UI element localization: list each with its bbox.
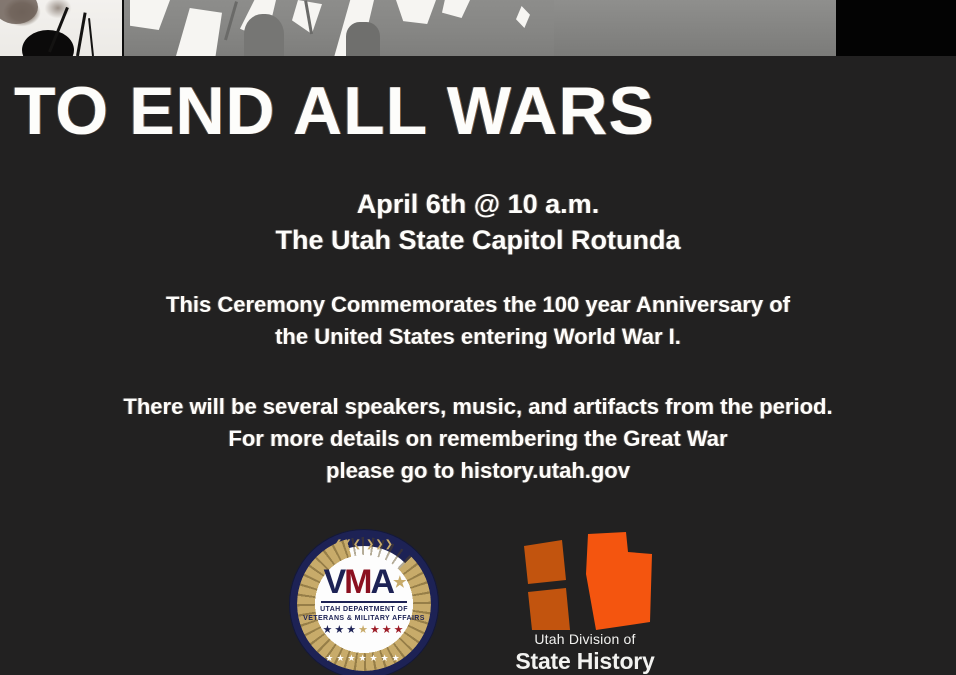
vma-letter-v: V <box>323 563 344 601</box>
rifle-silhouette <box>76 12 87 56</box>
event-location: The Utah State Capitol Rotunda <box>0 222 956 258</box>
page-title: TO END ALL WARS <box>14 72 655 150</box>
vma-letter-m: M <box>344 563 370 601</box>
vma-letter-a: A <box>371 563 394 601</box>
photo-fade <box>554 0 836 56</box>
smoke-blob <box>0 0 38 24</box>
panel-divider <box>122 0 124 56</box>
photo-panel-center <box>124 0 836 56</box>
state-history-wordmark: Utah Division of State History <box>500 630 670 675</box>
state-history-line-2: State History <box>500 648 670 675</box>
vma-divider <box>321 601 407 603</box>
rifle-silhouette <box>88 18 94 56</box>
state-history-line-1: Utah Division of <box>500 630 670 648</box>
crowd-highlight <box>396 0 436 24</box>
crowd-highlight <box>176 8 222 56</box>
vma-star-icon: ★ <box>393 574 404 591</box>
vma-seal-logo: ❮❮❮ ❯❯❯ VMA★ UTAH DEPARTMENT OF VETERANS… <box>289 529 439 675</box>
crowd-highlight <box>516 6 530 28</box>
vma-stars-red-icon: ★★★ <box>370 624 406 636</box>
vma-arc-stars-icon: ★★★★★★★ <box>289 653 439 664</box>
vma-org-line-1: UTAH DEPARTMENT OF <box>289 605 439 614</box>
event-details-line-3: please go to history.utah.gov <box>0 455 956 487</box>
event-description-block: This Ceremony Commemorates the 100 year … <box>0 289 956 353</box>
soldier-silhouette <box>244 14 284 56</box>
event-when-block: April 6th @ 10 a.m. The Utah State Capit… <box>0 186 956 258</box>
vma-stars-navy-icon: ★★★ <box>322 624 358 636</box>
vma-org-line-2: VETERANS & MILITARY AFFAIRS <box>289 614 439 623</box>
wwi-photo-banner <box>0 0 956 56</box>
vma-seal-text: ❮❮❮ ❯❯❯ VMA★ UTAH DEPARTMENT OF VETERANS… <box>289 529 439 675</box>
presentation-slide: TO END ALL WARS April 6th @ 10 a.m. The … <box>0 0 956 675</box>
helmet-silhouette <box>346 22 380 56</box>
soldier-silhouette <box>22 30 74 56</box>
vma-monogram: VMA★ <box>289 565 439 600</box>
crowd-highlight <box>442 0 470 18</box>
state-history-logo: Utah Division of State History <box>500 530 670 675</box>
vma-star-row: ★★★★★★★ <box>289 624 439 636</box>
photo-panel-left <box>0 0 122 56</box>
sponsor-logos: ❮❮❮ ❯❯❯ VMA★ UTAH DEPARTMENT OF VETERANS… <box>0 520 956 675</box>
event-details-block: There will be several speakers, music, a… <box>0 391 956 487</box>
event-description-line-1: This Ceremony Commemorates the 100 year … <box>0 289 956 321</box>
event-details-line-1: There will be several speakers, music, a… <box>0 391 956 423</box>
vma-star-gold-icon: ★ <box>358 624 370 636</box>
utah-shape-icon <box>500 530 670 630</box>
rifle-silhouette <box>224 1 238 40</box>
chevron-ornament-icon: ❮❮❮ ❯❯❯ <box>289 539 439 550</box>
photo-panel-right <box>836 0 956 56</box>
event-description-line-2: the United States entering World War I. <box>0 321 956 353</box>
crowd-highlight <box>130 0 170 30</box>
event-details-line-2: For more details on remembering the Grea… <box>0 423 956 455</box>
event-time: April 6th @ 10 a.m. <box>0 186 956 222</box>
